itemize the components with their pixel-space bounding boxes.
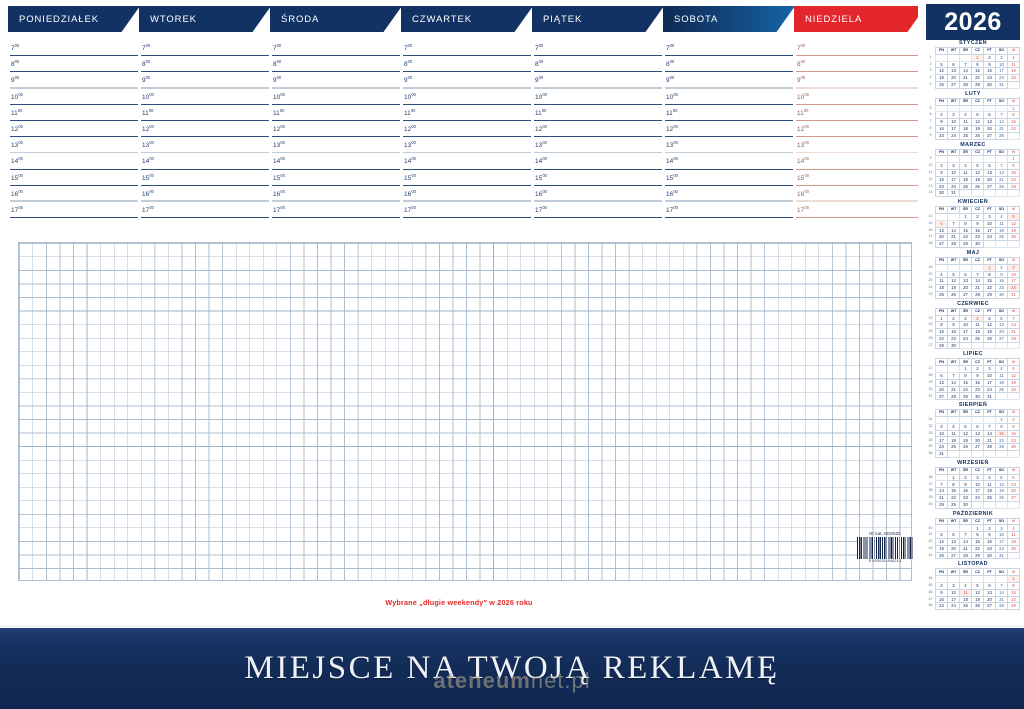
hour-write-line[interactable] (272, 71, 400, 72)
day-cell[interactable]: 12 (936, 68, 948, 75)
day-cell[interactable]: 15 (960, 379, 972, 386)
day-cell[interactable]: 23 (984, 545, 996, 552)
day-cell[interactable]: 22 (984, 285, 996, 292)
day-cell[interactable]: 2 (984, 54, 996, 61)
day-cell[interactable]: 22 (936, 335, 948, 342)
hour-row-17[interactable]: 1700 (532, 205, 664, 221)
day-cell[interactable]: 25 (936, 291, 948, 298)
day-cell[interactable]: 28 (1008, 335, 1020, 342)
hour-row-17[interactable]: 1700 (8, 205, 140, 221)
day-cell[interactable]: 13 (936, 227, 948, 234)
day-cell[interactable]: 15 (996, 430, 1008, 437)
hour-write-line[interactable] (534, 55, 662, 56)
hour-row-9[interactable]: 900 (8, 75, 140, 91)
hour-write-line[interactable] (796, 185, 924, 186)
day-cell[interactable]: 26 (972, 132, 984, 139)
hour-row-9[interactable]: 900 (663, 75, 795, 91)
hour-write-line[interactable] (10, 185, 138, 186)
day-cell[interactable]: 8 (936, 322, 948, 329)
day-cell[interactable]: 19 (972, 125, 984, 132)
day-cell[interactable]: 11 (960, 589, 972, 596)
hour-write-line[interactable] (10, 71, 138, 72)
hour-write-line[interactable] (534, 185, 662, 186)
hour-write-line[interactable] (272, 152, 400, 153)
day-cell[interactable]: 1 (1008, 156, 1020, 163)
day-cell[interactable]: 30 (984, 552, 996, 559)
day-cell[interactable]: 27 (936, 393, 948, 400)
day-cell[interactable]: 14 (936, 488, 948, 495)
hour-write-line[interactable] (403, 217, 531, 218)
hour-row-12[interactable]: 1200 (663, 124, 795, 140)
day-cell[interactable]: 16 (936, 596, 948, 603)
day-cell[interactable]: 30 (948, 342, 960, 349)
day-cell[interactable]: 8 (996, 423, 1008, 430)
day-cell[interactable]: 20 (948, 545, 960, 552)
hour-row-17[interactable]: 1700 (401, 205, 533, 221)
hour-row-12[interactable]: 1200 (8, 124, 140, 140)
hour-write-line[interactable] (403, 71, 531, 72)
day-cell[interactable]: 14 (948, 227, 960, 234)
day-cell[interactable]: 29 (972, 552, 984, 559)
day-cell[interactable]: 22 (1008, 125, 1020, 132)
hour-row-16[interactable]: 1600 (663, 189, 795, 205)
day-cell[interactable]: 30 (996, 291, 1008, 298)
day-cell[interactable]: 6 (936, 373, 948, 380)
day-cell[interactable]: 7 (936, 481, 948, 488)
hour-write-line[interactable] (10, 217, 138, 218)
day-cell[interactable]: 29 (960, 393, 972, 400)
day-cell[interactable]: 23 (960, 495, 972, 502)
hour-row-8[interactable]: 800 (794, 59, 926, 75)
day-cell[interactable]: 11 (1008, 532, 1020, 539)
hour-write-line[interactable] (403, 120, 531, 121)
day-cell[interactable]: 14 (960, 68, 972, 75)
day-cell[interactable]: 4 (936, 271, 948, 278)
day-cell[interactable]: 7 (996, 163, 1008, 170)
hour-row-8[interactable]: 800 (8, 59, 140, 75)
day-cell[interactable]: 21 (972, 285, 984, 292)
hour-row-11[interactable]: 1100 (8, 108, 140, 124)
day-cell[interactable]: 13 (984, 119, 996, 126)
hour-row-15[interactable]: 1500 (8, 173, 140, 189)
day-cell[interactable]: 17 (948, 596, 960, 603)
day-cell[interactable]: 14 (996, 169, 1008, 176)
day-cell[interactable]: 30 (1008, 444, 1020, 451)
day-cell[interactable]: 7 (948, 373, 960, 380)
hour-row-14[interactable]: 1400 (8, 156, 140, 172)
advertising-banner[interactable]: MIEJSCE NA TWOJĄ REKLAMĘ (0, 625, 1024, 709)
hour-row-13[interactable]: 1300 (401, 140, 533, 156)
hour-row-9[interactable]: 900 (139, 75, 271, 91)
day-cell[interactable]: 8 (1008, 112, 1020, 119)
day-cell[interactable]: 28 (972, 291, 984, 298)
day-cell[interactable]: 16 (984, 539, 996, 546)
day-cell[interactable]: 2 (1008, 417, 1020, 424)
day-cell[interactable]: 8 (948, 481, 960, 488)
day-cell[interactable]: 4 (960, 583, 972, 590)
day-cell[interactable]: 17 (960, 329, 972, 336)
hour-row-13[interactable]: 1300 (8, 140, 140, 156)
day-cell[interactable]: 19 (1008, 227, 1020, 234)
day-cell[interactable]: 31 (996, 552, 1008, 559)
day-cell[interactable]: 4 (1008, 54, 1020, 61)
hour-row-13[interactable]: 1300 (532, 140, 664, 156)
day-cell[interactable]: 9 (996, 271, 1008, 278)
day-cell[interactable]: 7 (960, 61, 972, 68)
day-cell[interactable]: 22 (1008, 176, 1020, 183)
hour-write-line[interactable] (796, 169, 924, 170)
day-cell[interactable]: 8 (984, 271, 996, 278)
hour-row-10[interactable]: 1000 (270, 92, 402, 108)
day-cell[interactable]: 12 (972, 589, 984, 596)
day-cell[interactable]: 11 (948, 430, 960, 437)
squared-note-grid[interactable] (18, 242, 912, 581)
hour-row-16[interactable]: 1600 (401, 189, 533, 205)
hour-row-12[interactable]: 1200 (401, 124, 533, 140)
day-cell[interactable]: 11 (996, 373, 1008, 380)
day-cell[interactable]: 31 (948, 190, 960, 197)
day-cell[interactable]: 27 (972, 444, 984, 451)
day-cell[interactable]: 16 (1008, 430, 1020, 437)
hour-write-line[interactable] (665, 136, 793, 137)
day-cell[interactable]: 13 (996, 322, 1008, 329)
day-cell[interactable]: 11 (936, 278, 948, 285)
hour-row-7[interactable]: 700 (139, 43, 271, 59)
day-cell[interactable]: 22 (960, 234, 972, 241)
day-cell[interactable]: 5 (936, 532, 948, 539)
day-cell[interactable]: 29 (936, 342, 948, 349)
day-cell[interactable]: 28 (936, 501, 948, 508)
hour-row-7[interactable]: 700 (8, 43, 140, 59)
hour-row-11[interactable]: 1100 (794, 108, 926, 124)
day-cell[interactable]: 3 (1008, 264, 1020, 271)
hour-row-7[interactable]: 700 (663, 43, 795, 59)
hour-write-line[interactable] (534, 104, 662, 105)
day-cell[interactable]: 19 (936, 75, 948, 82)
hour-row-15[interactable]: 1500 (139, 173, 271, 189)
day-cell[interactable]: 15 (984, 278, 996, 285)
day-cell[interactable]: 31 (996, 81, 1008, 88)
day-cell[interactable]: 22 (996, 437, 1008, 444)
day-cell[interactable]: 17 (948, 125, 960, 132)
hour-row-8[interactable]: 800 (401, 59, 533, 75)
hour-write-line[interactable] (10, 136, 138, 137)
day-cell[interactable]: 10 (948, 169, 960, 176)
day-cell[interactable]: 25 (984, 495, 996, 502)
day-cell[interactable]: 26 (1008, 234, 1020, 241)
day-cell[interactable]: 10 (996, 61, 1008, 68)
day-cell[interactable]: 1 (996, 417, 1008, 424)
day-cell[interactable]: 25 (1008, 75, 1020, 82)
day-cell[interactable]: 18 (936, 285, 948, 292)
day-cell[interactable]: 27 (984, 132, 996, 139)
day-cell[interactable]: 25 (960, 183, 972, 190)
hour-write-line[interactable] (665, 55, 793, 56)
day-cell[interactable]: 23 (948, 335, 960, 342)
day-cell[interactable]: 11 (1008, 61, 1020, 68)
day-cell[interactable]: 14 (1008, 322, 1020, 329)
hour-write-line[interactable] (272, 120, 400, 121)
day-cell[interactable]: 3 (996, 54, 1008, 61)
day-cell[interactable]: 5 (984, 315, 996, 322)
day-cell[interactable]: 21 (996, 125, 1008, 132)
day-cell[interactable]: 3 (960, 315, 972, 322)
day-cell[interactable]: 26 (936, 81, 948, 88)
hour-write-line[interactable] (272, 200, 400, 201)
day-cell[interactable]: 6 (984, 583, 996, 590)
day-cell[interactable]: 17 (948, 176, 960, 183)
day-cell[interactable]: 16 (948, 329, 960, 336)
day-cell[interactable]: 21 (948, 386, 960, 393)
hour-write-line[interactable] (403, 55, 531, 56)
hour-write-line[interactable] (796, 217, 924, 218)
day-cell[interactable]: 7 (996, 112, 1008, 119)
day-cell[interactable]: 16 (984, 68, 996, 75)
hour-row-17[interactable]: 1700 (794, 205, 926, 221)
day-cell[interactable]: 25 (996, 234, 1008, 241)
day-cell[interactable]: 14 (984, 430, 996, 437)
day-cell[interactable]: 18 (996, 227, 1008, 234)
day-cell[interactable]: 15 (972, 68, 984, 75)
hour-write-line[interactable] (534, 200, 662, 201)
day-cell[interactable]: 19 (984, 329, 996, 336)
day-cell[interactable]: 5 (948, 271, 960, 278)
hour-write-line[interactable] (141, 55, 269, 56)
hour-row-16[interactable]: 1600 (794, 189, 926, 205)
hour-row-16[interactable]: 1600 (8, 189, 140, 205)
day-cell[interactable]: 30 (984, 81, 996, 88)
day-cell[interactable]: 26 (948, 291, 960, 298)
day-cell[interactable]: 20 (1008, 488, 1020, 495)
day-cell[interactable]: 13 (972, 430, 984, 437)
hour-write-line[interactable] (665, 120, 793, 121)
day-cell[interactable]: 15 (936, 329, 948, 336)
day-cell[interactable]: 21 (960, 545, 972, 552)
day-cell[interactable]: 17 (972, 488, 984, 495)
day-cell[interactable]: 11 (972, 322, 984, 329)
day-cell[interactable]: 9 (960, 481, 972, 488)
day-cell[interactable]: 23 (936, 132, 948, 139)
hour-row-15[interactable]: 1500 (270, 173, 402, 189)
hour-row-10[interactable]: 1000 (401, 92, 533, 108)
day-cell[interactable]: 25 (960, 132, 972, 139)
day-cell[interactable]: 27 (1008, 495, 1020, 502)
hour-write-line[interactable] (796, 55, 924, 56)
day-cell[interactable]: 5 (1008, 366, 1020, 373)
day-cell[interactable]: 1 (972, 525, 984, 532)
day-cell[interactable]: 21 (960, 75, 972, 82)
day-cell[interactable]: 6 (936, 220, 948, 227)
hour-row-9[interactable]: 900 (401, 75, 533, 91)
hour-write-line[interactable] (534, 71, 662, 72)
day-cell[interactable]: 15 (1008, 119, 1020, 126)
day-cell[interactable]: 26 (972, 183, 984, 190)
hour-write-line[interactable] (272, 55, 400, 56)
day-cell[interactable]: 4 (984, 474, 996, 481)
day-cell[interactable]: 18 (960, 176, 972, 183)
day-cell[interactable]: 9 (984, 532, 996, 539)
hour-write-line[interactable] (796, 71, 924, 72)
day-cell[interactable]: 7 (1008, 315, 1020, 322)
day-cell[interactable]: 13 (948, 68, 960, 75)
day-cell[interactable]: 24 (948, 183, 960, 190)
day-cell[interactable]: 21 (1008, 329, 1020, 336)
day-cell[interactable]: 26 (996, 495, 1008, 502)
hour-write-line[interactable] (141, 71, 269, 72)
day-cell[interactable]: 1 (936, 315, 948, 322)
hour-row-16[interactable]: 1600 (532, 189, 664, 205)
day-cell[interactable]: 26 (936, 552, 948, 559)
day-cell[interactable]: 11 (960, 169, 972, 176)
hour-write-line[interactable] (534, 120, 662, 121)
day-cell[interactable]: 6 (984, 163, 996, 170)
hour-row-13[interactable]: 1300 (139, 140, 271, 156)
hour-write-line[interactable] (665, 152, 793, 153)
day-cell[interactable]: 21 (996, 176, 1008, 183)
day-cell[interactable]: 22 (948, 495, 960, 502)
day-cell[interactable]: 19 (1008, 379, 1020, 386)
day-cell[interactable]: 10 (948, 119, 960, 126)
hour-write-line[interactable] (10, 55, 138, 56)
hour-write-line[interactable] (403, 169, 531, 170)
day-cell[interactable]: 18 (960, 596, 972, 603)
day-cell[interactable]: 23 (972, 234, 984, 241)
day-cell[interactable]: 28 (996, 132, 1008, 139)
hour-write-line[interactable] (141, 136, 269, 137)
day-cell[interactable]: 17 (996, 539, 1008, 546)
day-cell[interactable]: 23 (936, 603, 948, 610)
day-cell[interactable]: 10 (984, 373, 996, 380)
day-cell[interactable]: 20 (972, 437, 984, 444)
day-cell[interactable]: 18 (1008, 68, 1020, 75)
day-cell[interactable]: 21 (936, 495, 948, 502)
day-cell[interactable]: 15 (1008, 589, 1020, 596)
day-cell[interactable]: 9 (936, 169, 948, 176)
hour-write-line[interactable] (10, 87, 138, 88)
day-cell[interactable]: 19 (972, 176, 984, 183)
day-cell[interactable]: 27 (984, 603, 996, 610)
day-cell[interactable]: 6 (960, 271, 972, 278)
day-cell[interactable]: 26 (984, 335, 996, 342)
day-cell[interactable]: 16 (936, 176, 948, 183)
hour-row-13[interactable]: 1300 (794, 140, 926, 156)
hour-write-line[interactable] (10, 120, 138, 121)
day-cell[interactable]: 20 (984, 125, 996, 132)
day-cell[interactable]: 30 (960, 501, 972, 508)
day-cell[interactable]: 3 (948, 112, 960, 119)
day-cell[interactable]: 18 (972, 329, 984, 336)
day-cell[interactable]: 3 (972, 474, 984, 481)
day-cell[interactable]: 28 (984, 444, 996, 451)
day-cell[interactable]: 5 (972, 583, 984, 590)
day-cell[interactable]: 17 (936, 437, 948, 444)
hour-write-line[interactable] (10, 200, 138, 201)
hour-write-line[interactable] (403, 104, 531, 105)
day-cell[interactable]: 1 (1008, 576, 1020, 583)
hour-row-12[interactable]: 1200 (794, 124, 926, 140)
hour-write-line[interactable] (665, 71, 793, 72)
day-cell[interactable]: 20 (948, 75, 960, 82)
hour-write-line[interactable] (665, 217, 793, 218)
day-cell[interactable]: 16 (936, 125, 948, 132)
day-cell[interactable]: 30 (972, 241, 984, 248)
hour-write-line[interactable] (665, 185, 793, 186)
day-cell[interactable]: 11 (996, 220, 1008, 227)
day-cell[interactable]: 8 (1008, 163, 1020, 170)
day-cell[interactable]: 10 (1008, 271, 1020, 278)
hour-write-line[interactable] (141, 169, 269, 170)
day-cell[interactable]: 2 (936, 583, 948, 590)
day-cell[interactable]: 17 (984, 379, 996, 386)
day-cell[interactable]: 25 (996, 386, 1008, 393)
day-cell[interactable]: 23 (972, 386, 984, 393)
hour-row-9[interactable]: 900 (794, 75, 926, 91)
hour-write-line[interactable] (10, 104, 138, 105)
day-cell[interactable]: 7 (960, 532, 972, 539)
hour-write-line[interactable] (10, 169, 138, 170)
day-cell[interactable]: 5 (996, 474, 1008, 481)
day-cell[interactable]: 23 (984, 75, 996, 82)
day-cell[interactable]: 8 (960, 373, 972, 380)
day-cell[interactable]: 18 (948, 437, 960, 444)
day-cell[interactable]: 29 (960, 241, 972, 248)
day-cell[interactable]: 25 (1008, 545, 1020, 552)
hour-row-11[interactable]: 1100 (270, 108, 402, 124)
day-cell[interactable]: 14 (972, 278, 984, 285)
day-cell[interactable]: 25 (960, 603, 972, 610)
day-cell[interactable]: 28 (948, 393, 960, 400)
day-cell[interactable]: 11 (960, 119, 972, 126)
hour-row-10[interactable]: 1000 (532, 92, 664, 108)
day-cell[interactable]: 20 (960, 285, 972, 292)
hour-write-line[interactable] (665, 104, 793, 105)
day-cell[interactable]: 3 (948, 583, 960, 590)
day-cell[interactable]: 19 (936, 545, 948, 552)
hour-write-line[interactable] (796, 152, 924, 153)
day-cell[interactable]: 17 (996, 68, 1008, 75)
hour-row-7[interactable]: 700 (401, 43, 533, 59)
hour-write-line[interactable] (272, 87, 400, 88)
hour-row-11[interactable]: 1100 (139, 108, 271, 124)
hour-write-line[interactable] (665, 87, 793, 88)
hour-write-line[interactable] (796, 104, 924, 105)
day-cell[interactable]: 3 (984, 366, 996, 373)
day-cell[interactable]: 29 (996, 444, 1008, 451)
hour-row-15[interactable]: 1500 (663, 173, 795, 189)
day-cell[interactable]: 8 (1008, 583, 1020, 590)
day-cell[interactable]: 2 (972, 213, 984, 220)
day-cell[interactable]: 1 (948, 474, 960, 481)
hour-write-line[interactable] (403, 185, 531, 186)
hour-row-14[interactable]: 1400 (532, 156, 664, 172)
day-cell[interactable]: 26 (1008, 386, 1020, 393)
day-cell[interactable]: 4 (948, 423, 960, 430)
day-cell[interactable]: 5 (972, 163, 984, 170)
day-cell[interactable]: 25 (972, 335, 984, 342)
day-cell[interactable]: 15 (948, 488, 960, 495)
day-cell[interactable]: 21 (948, 234, 960, 241)
day-cell[interactable]: 6 (1008, 474, 1020, 481)
hour-write-line[interactable] (403, 152, 531, 153)
day-cell[interactable]: 23 (1008, 437, 1020, 444)
hour-row-10[interactable]: 1000 (8, 92, 140, 108)
day-cell[interactable]: 5 (936, 61, 948, 68)
day-cell[interactable]: 4 (960, 112, 972, 119)
hour-row-14[interactable]: 1400 (139, 156, 271, 172)
day-cell[interactable]: 31 (936, 451, 948, 458)
hour-write-line[interactable] (534, 87, 662, 88)
hour-row-7[interactable]: 700 (270, 43, 402, 59)
